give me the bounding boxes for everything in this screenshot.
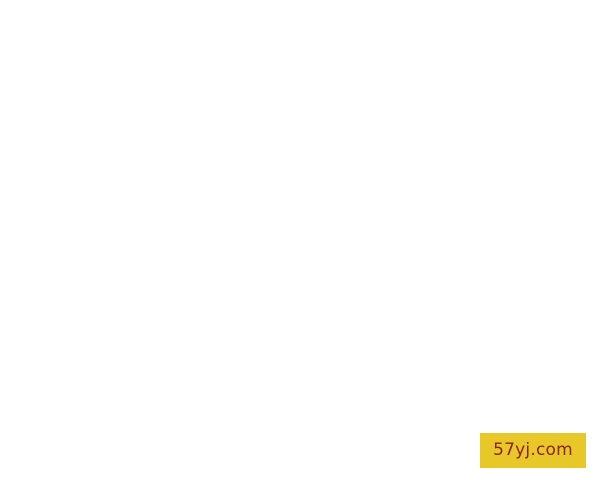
headline-text: 万人同场竞技线上智能跳绳大赛精彩开赛 挑战极限突破自我 [0,204,600,288]
watermark-badge: 57yj.com [480,433,586,468]
headline-line-2: 挑战极限突破自我 [0,246,600,288]
headline-line-1: 万人同场竞技线上智能跳绳大赛精彩开赛 [0,204,600,246]
watermark-label: 57yj.com [493,442,573,459]
banner-image: 万人同场竞技线上智能跳绳大赛精彩开赛 挑战极限突破自我 57yj.com [0,0,600,480]
